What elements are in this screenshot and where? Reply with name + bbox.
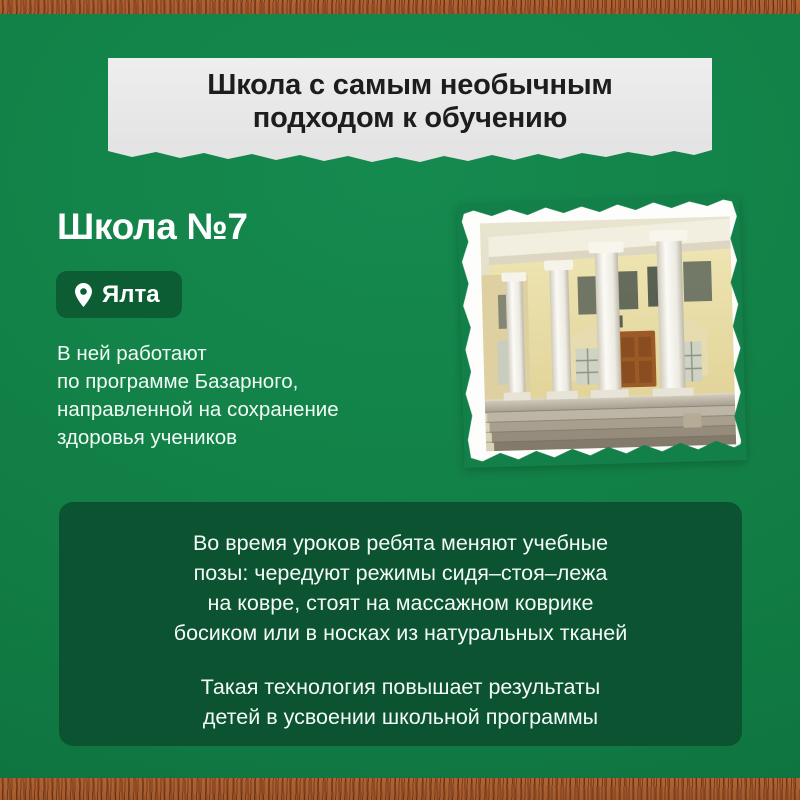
school-name: Школа №7 xyxy=(57,205,248,249)
photo-torn-edge-icon xyxy=(457,196,746,468)
wood-strip-bottom xyxy=(0,778,800,800)
city-label: Ялта xyxy=(102,283,160,307)
paragraph-line: Такая технология повышает результаты xyxy=(201,672,601,702)
info-panel-content: Во время уроков ребята меняют учебные по… xyxy=(59,502,742,746)
title-banner: Школа с самым необычным подходом к обуче… xyxy=(108,58,712,162)
paragraph-line: детей в усвоении школьной программы xyxy=(201,702,601,732)
paragraph-line: позы: чередуют режимы сидя–стоя–лежа xyxy=(174,558,628,588)
banner-title-line-2: подходом к обучению xyxy=(253,102,567,135)
lead-line: здоровья учеников xyxy=(57,424,457,452)
city-badge: Ялта xyxy=(56,271,182,318)
banner-title-line-1: Школа с самым необычным xyxy=(207,69,612,102)
infographic-card: Школа с самым необычным подходом к обуче… xyxy=(0,0,800,800)
banner-title: Школа с самым необычным подходом к обуче… xyxy=(108,58,712,146)
lead-line: по программе Базарного, xyxy=(57,368,457,396)
paragraph-line: босиком или в носках из натуральных ткан… xyxy=(174,618,628,648)
wood-texture xyxy=(0,778,800,800)
paragraph-line: Во время уроков ребята меняют учебные xyxy=(174,528,628,558)
paragraph-line: на ковре, стоят на массажном коврике xyxy=(174,588,628,618)
lead-line: направленной на сохранение xyxy=(57,396,457,424)
panel-paragraph-1: Во время уроков ребята меняют учебные по… xyxy=(174,528,628,648)
school-lead-text: В ней работают по программе Базарного, н… xyxy=(57,340,457,452)
photo-paper-frame xyxy=(457,196,746,468)
location-pin-icon xyxy=(74,283,93,307)
panel-paragraph-2: Такая технология повышает результаты дет… xyxy=(201,672,601,732)
school-photo xyxy=(451,192,755,474)
info-panel: Во время уроков ребята меняют учебные по… xyxy=(59,502,742,746)
lead-line: В ней работают xyxy=(57,340,457,368)
